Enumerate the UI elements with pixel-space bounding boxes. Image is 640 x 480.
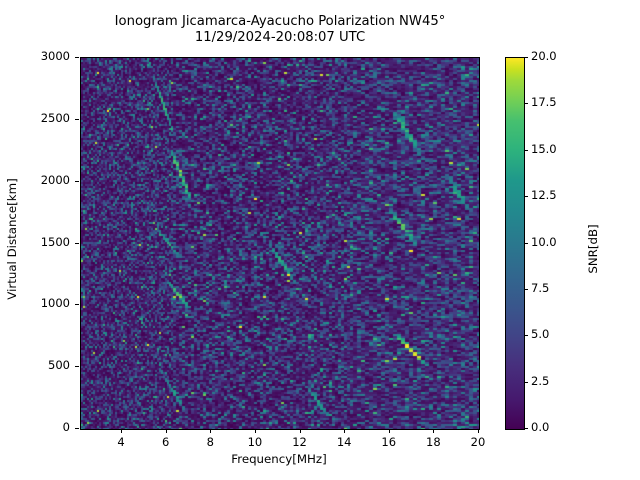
colorbar-tick-label: 12.5 [531, 188, 577, 202]
x-tick-label: 18 [413, 435, 453, 449]
y-tick [75, 119, 79, 120]
y-tick [75, 366, 79, 367]
x-tick [433, 429, 434, 433]
y-tick [75, 57, 79, 58]
ionogram-figure: Ionogram Jicamarca-Ayacucho Polarization… [0, 0, 640, 480]
x-tick-label: 20 [458, 435, 498, 449]
y-axis-label: Virtual Distance[km] [5, 159, 19, 319]
colorbar-tick-label: 15.0 [531, 142, 577, 156]
y-tick-label: 500 [0, 358, 70, 372]
x-tick [344, 429, 345, 433]
y-tick [75, 304, 79, 305]
x-axis-label: Frequency[MHz] [80, 452, 478, 466]
x-tick [166, 429, 167, 433]
y-tick [75, 181, 79, 182]
colorbar-tick [524, 196, 528, 197]
x-tick [478, 429, 479, 433]
colorbar-tick [524, 57, 528, 58]
chart-title: Ionogram Jicamarca-Ayacucho Polarization… [0, 14, 560, 46]
colorbar-tick-label: 7.5 [531, 281, 577, 295]
colorbar[interactable] [505, 57, 525, 430]
colorbar-tick-label: 10.0 [531, 235, 577, 249]
colorbar-tick-label: 20.0 [531, 49, 577, 63]
x-tick [389, 429, 390, 433]
y-tick-label: 2500 [0, 111, 70, 125]
colorbar-tick [524, 150, 528, 151]
colorbar-tick [524, 335, 528, 336]
x-tick-label: 14 [324, 435, 364, 449]
x-tick-label: 12 [280, 435, 320, 449]
colorbar-tick [524, 243, 528, 244]
y-tick-label: 0 [0, 420, 70, 434]
heatmap-plot-area[interactable] [80, 57, 480, 430]
x-tick-label: 6 [146, 435, 186, 449]
y-tick [75, 428, 79, 429]
y-tick-label: 3000 [0, 49, 70, 63]
x-tick-label: 8 [190, 435, 230, 449]
x-tick-label: 16 [369, 435, 409, 449]
colorbar-tick [524, 428, 528, 429]
colorbar-label: SNR[dB] [586, 169, 600, 329]
colorbar-tick-label: 5.0 [531, 327, 577, 341]
colorbar-tick-label: 2.5 [531, 374, 577, 388]
colorbar-tick-label: 0.0 [531, 420, 577, 434]
ionogram-heatmap-canvas [81, 58, 479, 429]
x-tick [121, 429, 122, 433]
x-tick [300, 429, 301, 433]
y-tick [75, 243, 79, 244]
colorbar-tick [524, 103, 528, 104]
x-tick [255, 429, 256, 433]
colorbar-tick [524, 289, 528, 290]
colorbar-tick [524, 382, 528, 383]
x-tick [210, 429, 211, 433]
x-tick-label: 10 [235, 435, 275, 449]
colorbar-tick-label: 17.5 [531, 95, 577, 109]
x-tick-label: 4 [101, 435, 141, 449]
